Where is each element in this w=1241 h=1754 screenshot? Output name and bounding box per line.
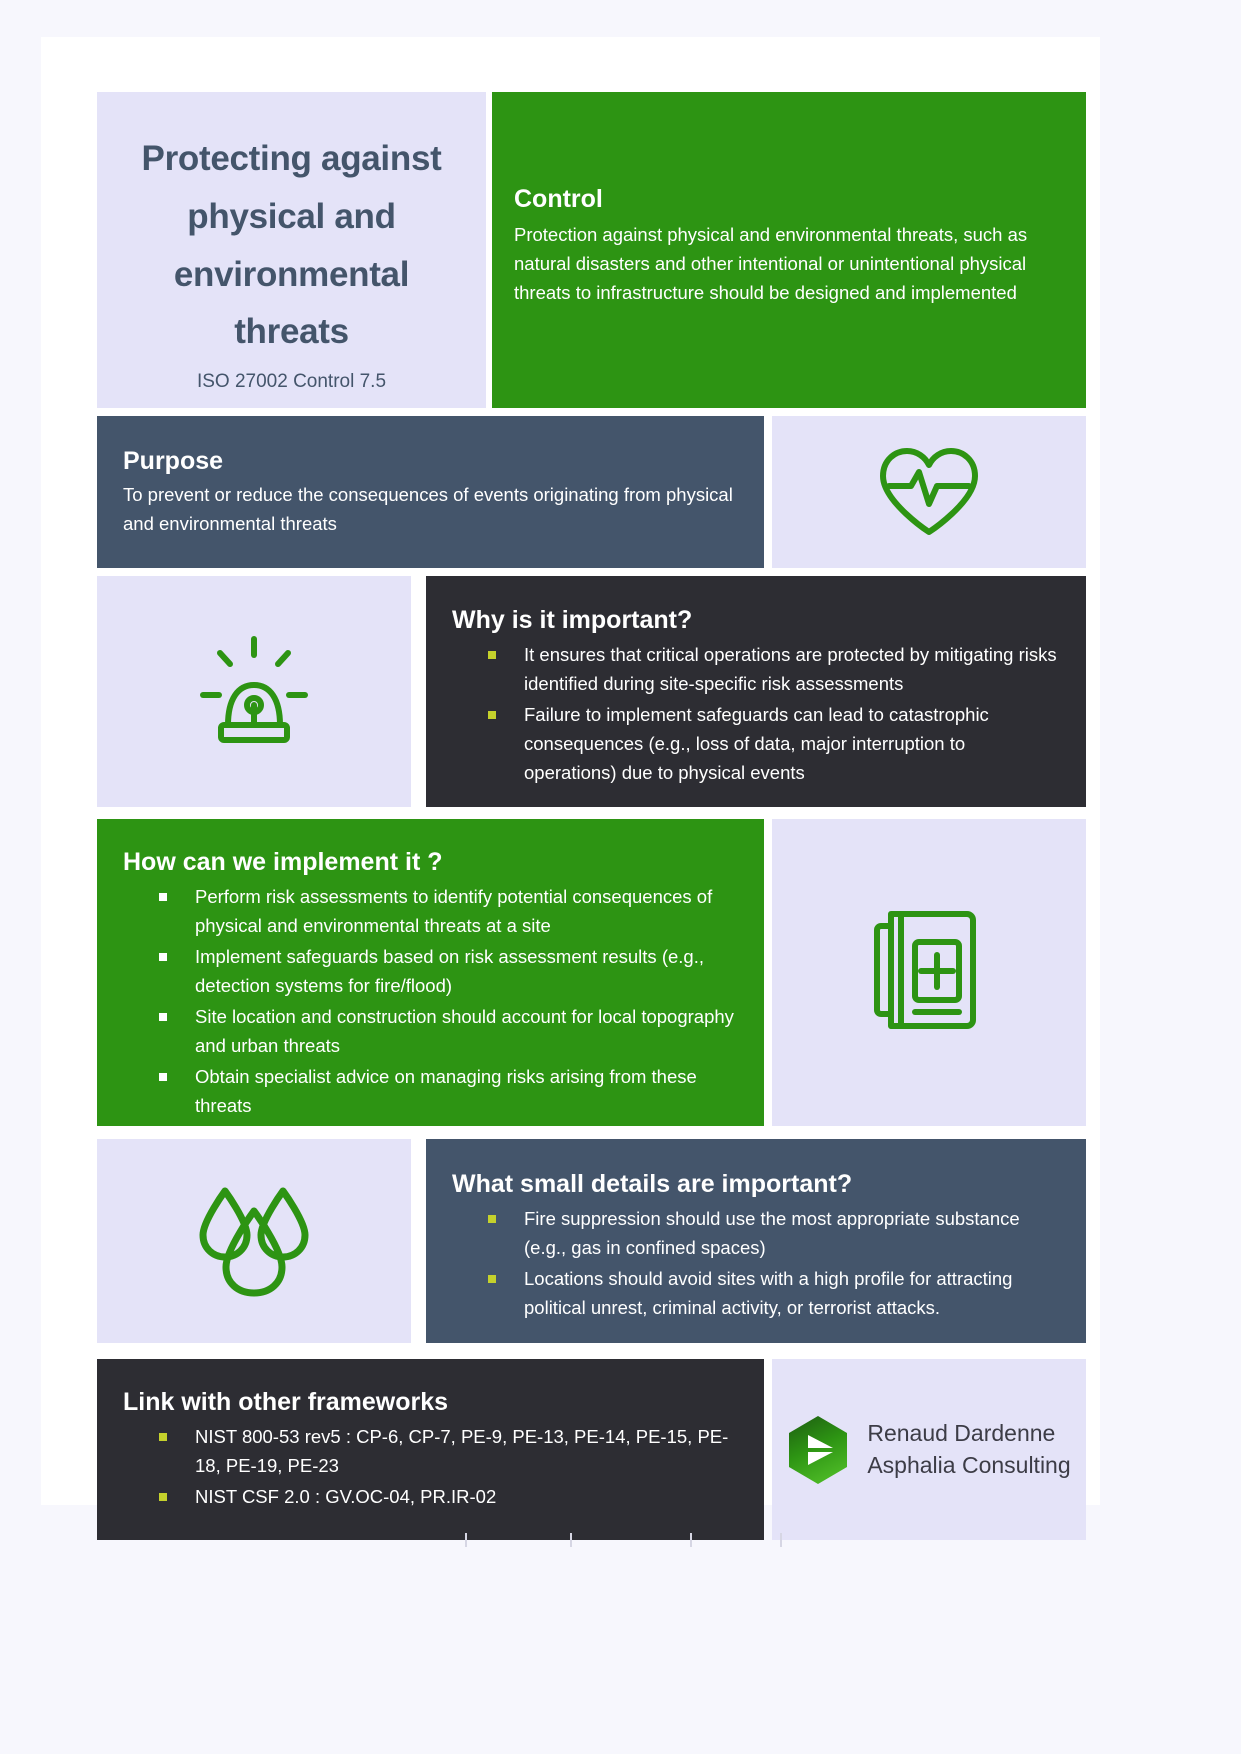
- why-heading: Why is it important?: [452, 605, 1060, 636]
- title-subtitle: ISO 27002 Control 7.5: [123, 371, 460, 393]
- signature-name: Renaud Dardenne: [867, 1418, 1070, 1450]
- link-bullet-list: NIST 800-53 rev5 : CP-6, CP-7, PE-9, PE-…: [105, 1422, 740, 1511]
- purpose-card: Purpose To prevent or reduce the consequ…: [97, 416, 764, 568]
- medical-book-icon: [871, 908, 987, 1038]
- how-bullet-list: Perform risk assessments to identify pot…: [105, 882, 740, 1120]
- purpose-heading: Purpose: [123, 446, 734, 477]
- asphalia-hexagon-logo: [787, 1415, 849, 1485]
- list-item: Locations should avoid sites with a high…: [488, 1264, 1060, 1322]
- small-details-card: What small details are important? Fire s…: [426, 1139, 1086, 1343]
- list-item: NIST 800-53 rev5 : CP-6, CP-7, PE-9, PE-…: [159, 1422, 740, 1480]
- how-implement-card: How can we implement it ? Perform risk a…: [97, 819, 764, 1126]
- footer-tick: [780, 1533, 782, 1547]
- list-item: Site location and construction should ac…: [159, 1002, 740, 1060]
- signature-text: Renaud Dardenne Asphalia Consulting: [867, 1418, 1070, 1481]
- signature-company: Asphalia Consulting: [867, 1450, 1070, 1482]
- list-item: Fire suppression should use the most app…: [488, 1204, 1060, 1262]
- list-item: NIST CSF 2.0 : GV.OC-04, PR.IR-02: [159, 1482, 740, 1511]
- water-drops-icon-card: [97, 1139, 411, 1343]
- page-title: Protecting against physical and environm…: [123, 130, 460, 361]
- infographic-sheet: Protecting against physical and environm…: [41, 37, 1100, 1505]
- purpose-body: To prevent or reduce the consequences of…: [123, 480, 734, 538]
- how-heading: How can we implement it ?: [123, 847, 740, 878]
- details-bullet-list: Fire suppression should use the most app…: [434, 1204, 1060, 1322]
- signature-card: Renaud Dardenne Asphalia Consulting: [772, 1359, 1086, 1540]
- heartbeat-icon: [877, 446, 981, 538]
- heartbeat-icon-card: [772, 416, 1086, 568]
- list-item: Implement safeguards based on risk asses…: [159, 942, 740, 1000]
- list-item: Perform risk assessments to identify pot…: [159, 882, 740, 940]
- footer-tick: [690, 1533, 692, 1547]
- details-heading: What small details are important?: [452, 1169, 1060, 1200]
- link-heading: Link with other frameworks: [123, 1387, 740, 1418]
- control-body: Protection against physical and environm…: [514, 220, 1054, 307]
- link-frameworks-card: Link with other frameworks NIST 800-53 r…: [97, 1359, 764, 1540]
- title-card: Protecting against physical and environm…: [97, 92, 486, 408]
- siren-icon-card: [97, 576, 411, 807]
- footer-tick: [465, 1533, 467, 1547]
- medical-book-icon-card: [772, 819, 1086, 1126]
- footer-tick: [570, 1533, 572, 1547]
- why-important-card: Why is it important? It ensures that cri…: [426, 576, 1086, 807]
- list-item: It ensures that critical operations are …: [488, 640, 1060, 698]
- infographic-page: Protecting against physical and environm…: [0, 0, 1241, 1754]
- list-item: Obtain specialist advice on managing ris…: [159, 1062, 740, 1120]
- control-heading: Control: [514, 184, 1054, 215]
- why-bullet-list: It ensures that critical operations are …: [434, 640, 1060, 787]
- list-item: Failure to implement safeguards can lead…: [488, 700, 1060, 787]
- siren-icon: [193, 633, 315, 751]
- water-drops-icon: [193, 1185, 315, 1297]
- control-card: Control Protection against physical and …: [492, 92, 1086, 408]
